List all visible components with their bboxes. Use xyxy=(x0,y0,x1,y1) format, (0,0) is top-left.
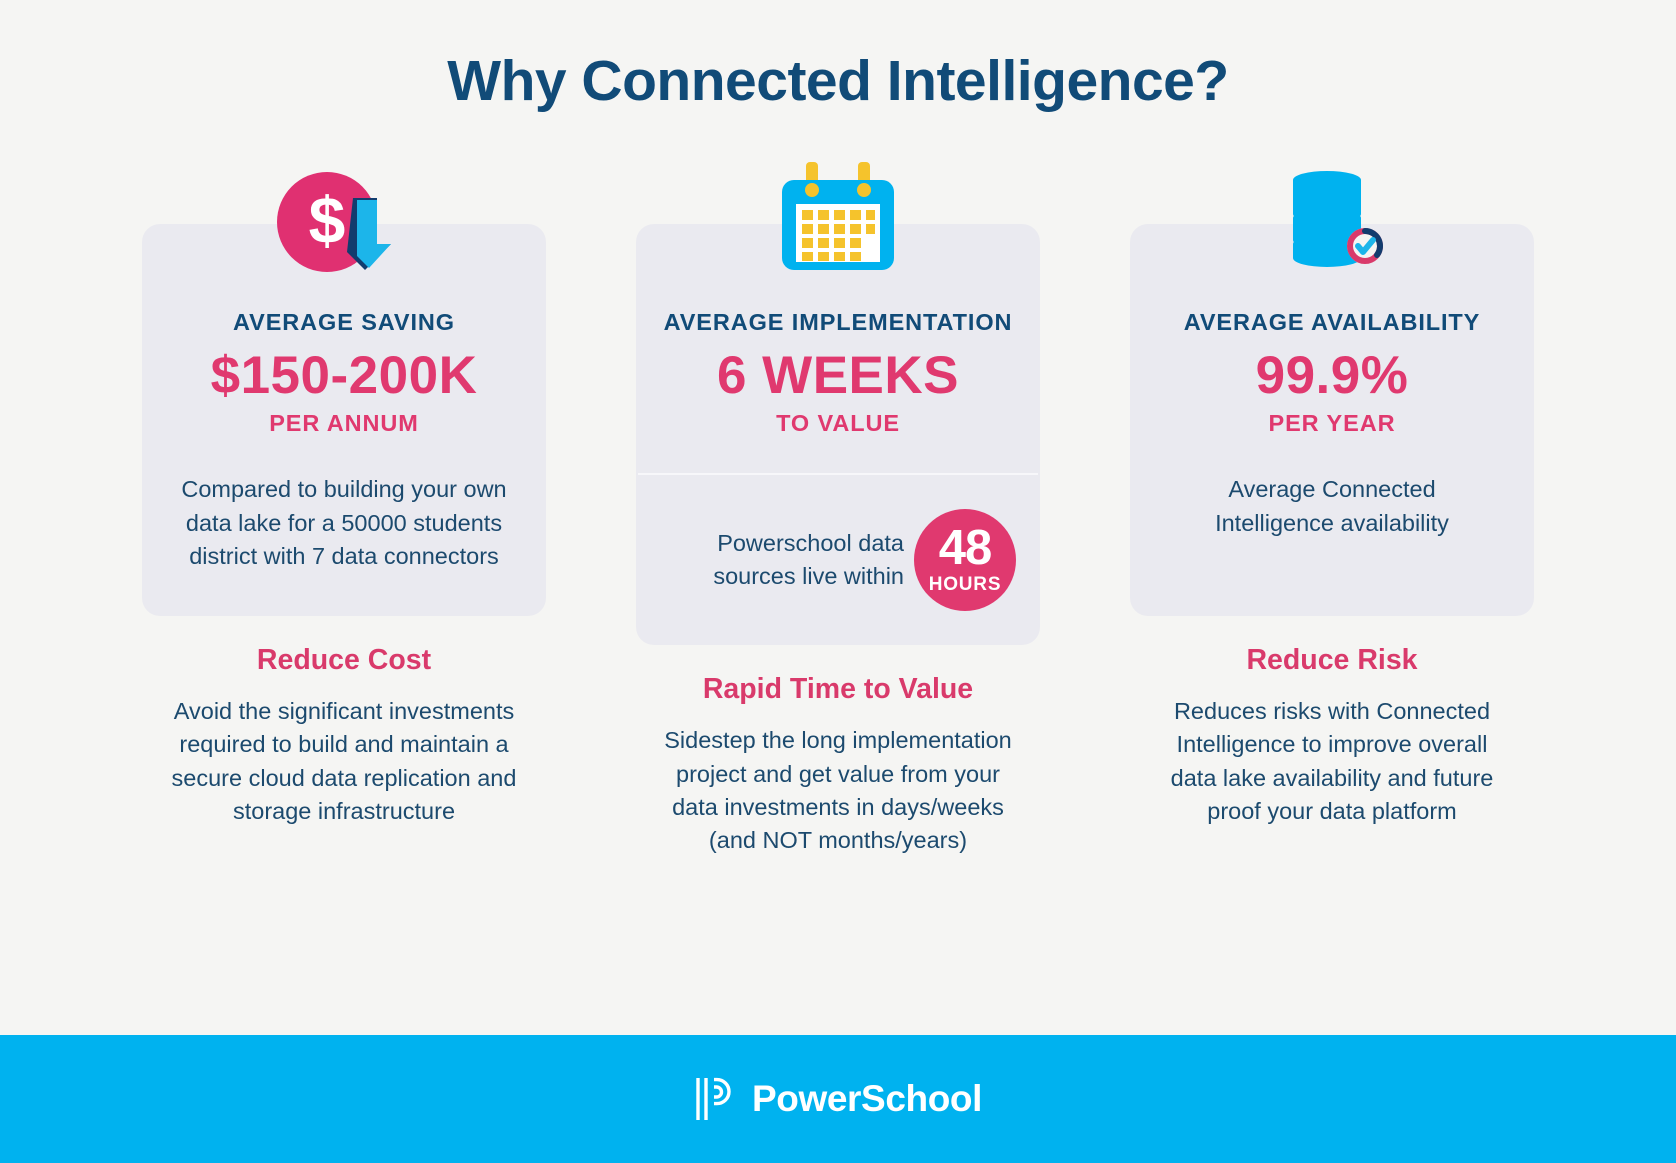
benefit-description: Reduces risks with Connected Intelligenc… xyxy=(1152,695,1512,828)
stat-card-saving: AVERAGE SAVING $150-200K PER ANNUM Compa… xyxy=(142,224,546,616)
hours-badge: 48 HOURS xyxy=(914,509,1016,611)
infographic-page: Why Connected Intelligence? $ AVERAGE SA… xyxy=(0,0,1676,1163)
icon-wrap-3 xyxy=(1116,160,1548,272)
stat-label: AVERAGE AVAILABILITY xyxy=(1184,310,1481,336)
hours-row: Powerschool data sources live within 48 … xyxy=(660,509,1016,611)
calendar-glyph xyxy=(776,160,900,272)
benefit-description: Avoid the significant investments requir… xyxy=(164,695,524,828)
stat-card-availability: AVERAGE AVAILABILITY 99.9% PER YEAR Aver… xyxy=(1130,224,1534,616)
hours-text: Powerschool data sources live within xyxy=(660,527,904,594)
down-arrow-icon xyxy=(347,198,393,272)
hours-unit: HOURS xyxy=(929,574,1002,596)
stat-value: 6 WEEKS xyxy=(717,344,959,408)
stat-value: $150-200K xyxy=(211,344,478,408)
benefit-title: Reduce Risk xyxy=(1246,644,1417,677)
powerschool-wordmark: PowerSchool xyxy=(752,1078,982,1120)
powerschool-p-mark-icon xyxy=(694,1076,738,1122)
card-divider xyxy=(638,473,1038,475)
card-body-text: Average Connected Intelligence availabil… xyxy=(1167,473,1497,540)
benefit-block-2: Rapid Time to Value Sidestep the long im… xyxy=(636,673,1040,857)
page-title: Why Connected Intelligence? xyxy=(0,48,1676,114)
dollar-sign-glyph: $ xyxy=(309,187,346,253)
hours-number: 48 xyxy=(939,525,992,572)
footer-bar: PowerSchool xyxy=(0,1035,1676,1163)
icon-wrap-2 xyxy=(622,160,1054,272)
database-glyph xyxy=(1279,160,1391,272)
stat-card-implementation: AVERAGE IMPLEMENTATION 6 WEEKS TO VALUE … xyxy=(636,224,1040,645)
column-rapid-time-to-value: AVERAGE IMPLEMENTATION 6 WEEKS TO VALUE … xyxy=(622,160,1054,858)
stat-sub: PER YEAR xyxy=(1269,411,1396,437)
column-reduce-risk: AVERAGE AVAILABILITY 99.9% PER YEAR Aver… xyxy=(1116,160,1548,858)
columns-container: $ AVERAGE SAVING $150-200K PER ANNUM Com… xyxy=(0,160,1676,858)
card-body-text: Compared to building your own data lake … xyxy=(179,473,509,573)
column-reduce-cost: $ AVERAGE SAVING $150-200K PER ANNUM Com… xyxy=(128,160,560,858)
benefit-description: Sidestep the long implementation project… xyxy=(658,724,1018,857)
stat-label: AVERAGE SAVING xyxy=(233,310,455,336)
benefit-title: Rapid Time to Value xyxy=(703,673,973,706)
stat-sub: PER ANNUM xyxy=(269,411,419,437)
stat-sub: TO VALUE xyxy=(776,411,900,437)
benefit-block-3: Reduce Risk Reduces risks with Connected… xyxy=(1130,644,1534,828)
stat-label: AVERAGE IMPLEMENTATION xyxy=(664,310,1013,336)
benefit-block-1: Reduce Cost Avoid the significant invest… xyxy=(142,644,546,828)
benefit-title: Reduce Cost xyxy=(257,644,431,677)
powerschool-logo: PowerSchool xyxy=(694,1076,982,1122)
calendar-icon xyxy=(763,160,913,272)
database-check-icon xyxy=(1257,160,1407,272)
dollar-coin-down-arrow-icon: $ xyxy=(269,160,419,272)
icon-wrap-1: $ xyxy=(128,160,560,272)
stat-value: 99.9% xyxy=(1256,344,1409,408)
